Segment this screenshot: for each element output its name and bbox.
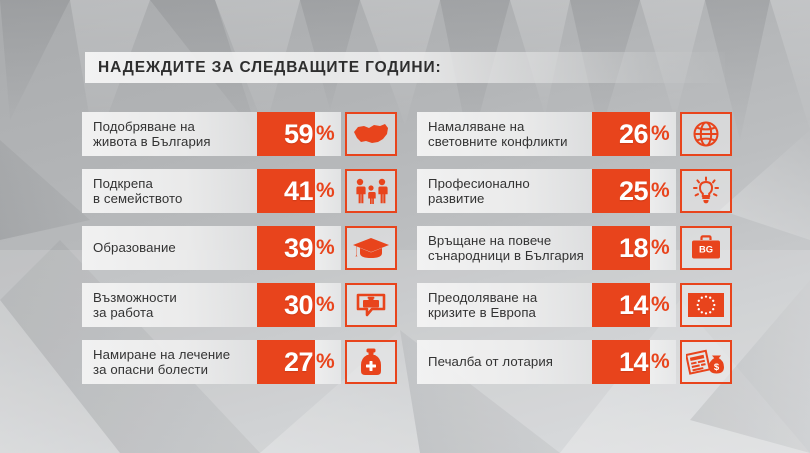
stat-row[interactable]: Печалба от лотария 14 % [417, 340, 732, 384]
stat-label-bar: Образование [82, 226, 257, 270]
stat-row[interactable]: Професионално развитие 25 % [417, 169, 732, 213]
stat-row[interactable]: Образование 39 % [82, 226, 397, 270]
stat-label: Печалба от лотария [428, 354, 553, 370]
stat-icon-box: $ [680, 340, 732, 384]
globe-icon [692, 120, 720, 148]
stat-row[interactable]: Намаляване на световните конфликти 26 % [417, 112, 732, 156]
bulgaria-map-icon [352, 121, 390, 147]
stat-label-bar: Печалба от лотария [417, 340, 592, 384]
page-title: НАДЕЖДИТЕ ЗА СЛЕДВАЩИТЕ ГОДИНИ: [85, 59, 442, 77]
stat-row[interactable]: Намиране на лечение за опасни болести 27… [82, 340, 397, 384]
percent-sign: % [315, 226, 341, 270]
percent-sign: % [650, 169, 676, 213]
stat-label-bar: Намиране на лечение за опасни болести [82, 340, 257, 384]
stat-label-bar: Връщане на повече сънародници в България [417, 226, 592, 270]
stat-label-bar: Подобряване на живота в България [82, 112, 257, 156]
stat-value: 59 [284, 121, 313, 148]
dollar-sign-icon: $ [714, 362, 720, 373]
stat-row[interactable]: Възможности за работа 30 % [82, 283, 397, 327]
eu-flag-icon [687, 292, 725, 318]
stat-label: Връщане на повече сънародници в България [428, 233, 584, 264]
stat-icon-box [345, 340, 397, 384]
stat-icon-box: BG [680, 226, 732, 270]
lottery-money-icon: $ [686, 348, 726, 376]
stat-value-box: 30 [257, 283, 315, 327]
stat-label: Възможности за работа [93, 290, 177, 321]
stat-value: 18 [619, 235, 648, 262]
stat-row[interactable]: Подкрепа в семейството 41 % [82, 169, 397, 213]
stat-icon-box [345, 283, 397, 327]
percent-sign: % [315, 283, 341, 327]
stat-value: 14 [619, 349, 648, 376]
stat-value-box: 39 [257, 226, 315, 270]
stat-value-box: 18 [592, 226, 650, 270]
stat-icon-box [680, 169, 732, 213]
stat-value-box: 14 [592, 283, 650, 327]
page-title-bar: НАДЕЖДИТЕ ЗА СЛЕДВАЩИТЕ ГОДИНИ: [85, 52, 725, 83]
stat-label: Намиране на лечение за опасни болести [93, 347, 230, 378]
stat-value: 25 [619, 178, 648, 205]
stat-icon-box [345, 169, 397, 213]
stat-value: 14 [619, 292, 648, 319]
stat-label: Намаляване на световните конфликти [428, 119, 568, 150]
stat-icon-box [680, 283, 732, 327]
percent-sign: % [650, 226, 676, 270]
stat-label: Професионално развитие [428, 176, 530, 207]
stat-icon-box [680, 112, 732, 156]
stat-label-bar: Възможности за работа [82, 283, 257, 327]
percent-sign: % [315, 340, 341, 384]
stat-label: Преодоляване на кризите в Европа [428, 290, 537, 321]
suitcase-bg-icon: BG [688, 234, 724, 262]
stat-label: Образование [93, 240, 176, 256]
stat-value-box: 25 [592, 169, 650, 213]
stat-row[interactable]: Преодоляване на кризите в Европа 14 % [417, 283, 732, 327]
stat-value-box: 26 [592, 112, 650, 156]
family-icon [351, 177, 391, 205]
stat-value-box: 27 [257, 340, 315, 384]
stat-icon-box [345, 112, 397, 156]
stat-value: 26 [619, 121, 648, 148]
stat-label: Подкрепа в семейството [93, 176, 182, 207]
stat-label: Подобряване на живота в България [93, 119, 211, 150]
stat-row[interactable]: Подобряване на живота в България 59 % [82, 112, 397, 156]
briefcase-speech-icon [354, 291, 388, 319]
percent-sign: % [650, 283, 676, 327]
stat-value-box: 41 [257, 169, 315, 213]
lightbulb-icon [689, 176, 723, 206]
stat-label-bar: Професионално развитие [417, 169, 592, 213]
percent-sign: % [650, 112, 676, 156]
stat-value: 41 [284, 178, 313, 205]
stat-icon-box [345, 226, 397, 270]
stat-label-bar: Преодоляване на кризите в Европа [417, 283, 592, 327]
stat-label-bar: Подкрепа в семейството [82, 169, 257, 213]
stat-value: 30 [284, 292, 313, 319]
stat-value-box: 14 [592, 340, 650, 384]
stat-value-box: 59 [257, 112, 315, 156]
stat-label-bar: Намаляване на световните конфликти [417, 112, 592, 156]
percent-sign: % [650, 340, 676, 384]
graduation-cap-icon [351, 235, 391, 262]
percent-sign: % [315, 112, 341, 156]
infographic-screen: НАДЕЖДИТЕ ЗА СЛЕДВАЩИТЕ ГОДИНИ: Подобряв… [0, 0, 810, 453]
stat-value: 27 [284, 349, 313, 376]
suitcase-bg-label: BG [699, 244, 713, 255]
stats-column-right: Намаляване на световните конфликти 26 % [417, 112, 732, 397]
percent-sign: % [315, 169, 341, 213]
stat-value: 39 [284, 235, 313, 262]
medicine-bottle-icon [358, 347, 384, 377]
stats-column-left: Подобряване на живота в България 59 % По… [82, 112, 397, 397]
stat-row[interactable]: Връщане на повече сънародници в България… [417, 226, 732, 270]
